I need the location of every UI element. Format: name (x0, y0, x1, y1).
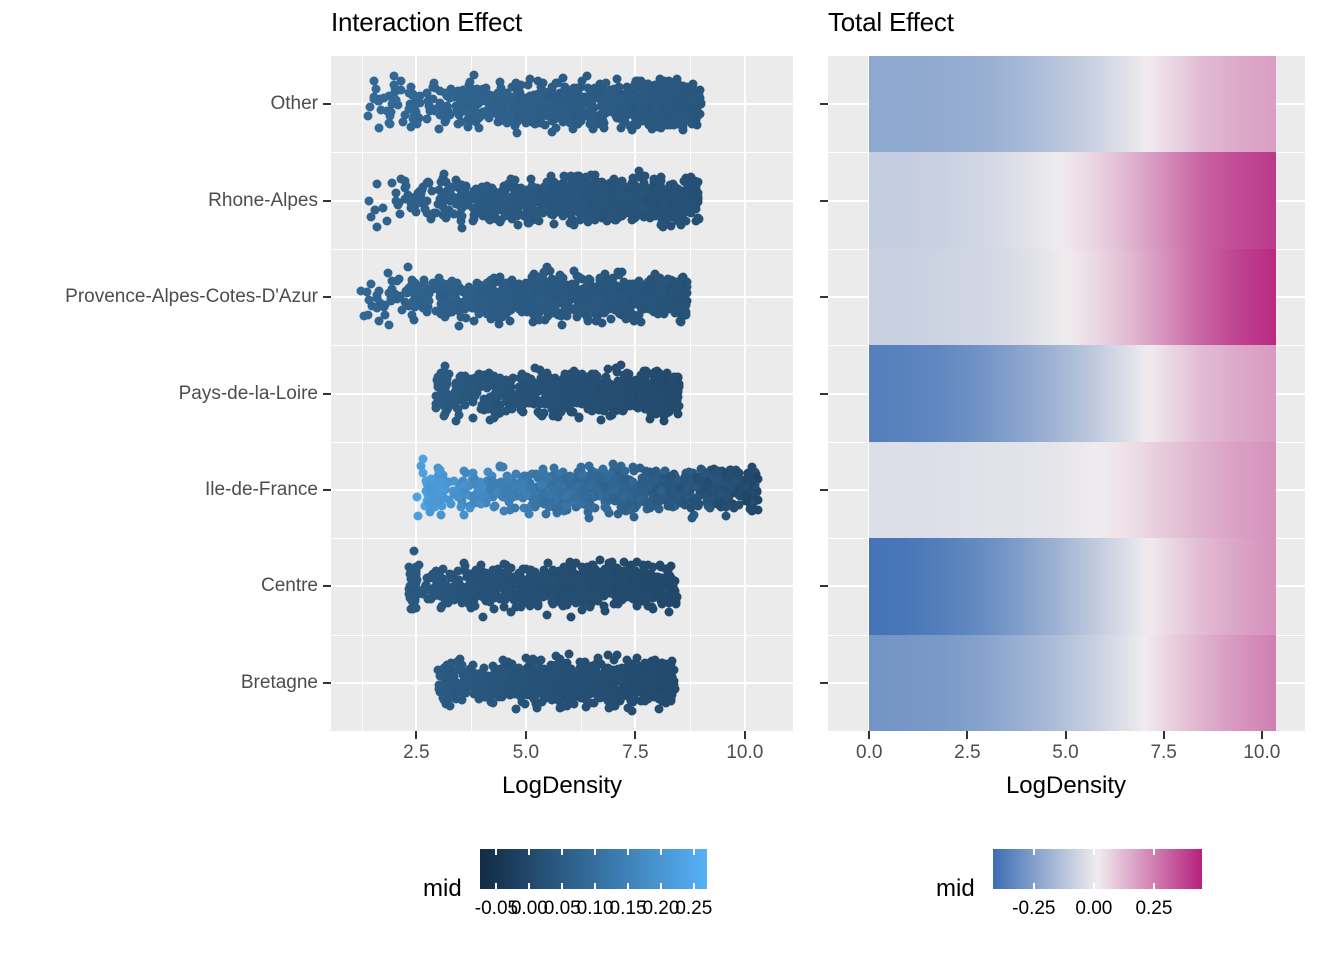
scatter-point (590, 285, 599, 294)
scatter-point (593, 179, 602, 188)
scatter-point (391, 95, 400, 104)
scatter-point (560, 172, 569, 181)
scatter-point (650, 177, 659, 186)
scatter-point (608, 493, 617, 502)
scatter-point (561, 103, 570, 112)
scatter-point (620, 371, 629, 380)
scatter-point (528, 279, 537, 288)
scatter-point (683, 204, 692, 213)
scatter-point (490, 481, 499, 490)
scatter-point (405, 283, 414, 292)
scatter-point (363, 111, 372, 120)
gridline-vertical-minor (690, 56, 691, 731)
scatter-point (598, 117, 607, 126)
scatter-point (464, 191, 473, 200)
scatter-point (721, 503, 730, 512)
scatter-point (509, 191, 518, 200)
scatter-point (629, 173, 638, 182)
scatter-point (648, 477, 657, 486)
scatter-point (460, 511, 469, 520)
scatter-point (666, 471, 675, 480)
scatter-point (644, 95, 653, 104)
scatter-point (396, 210, 405, 219)
scatter-point (412, 120, 421, 129)
scatter-point (746, 504, 755, 513)
scatter-point (475, 201, 484, 210)
scatter-point (656, 285, 665, 294)
scatter-point (483, 182, 492, 191)
scatter-point (381, 311, 390, 320)
scatter-point (595, 274, 604, 283)
panel-title-total-effect: Total Effect (828, 7, 954, 38)
scatter-point (545, 294, 554, 303)
scatter-point (446, 110, 455, 119)
scatter-point (525, 391, 534, 400)
scatter-point (572, 312, 581, 321)
scatter-point (530, 193, 539, 202)
scatter-point (667, 222, 676, 231)
scatter-point (742, 491, 751, 500)
scatter-point (495, 461, 504, 470)
scatter-point (500, 507, 509, 516)
scatter-point (501, 185, 510, 194)
scatter-point (431, 209, 440, 218)
scatter-point (721, 511, 730, 520)
scatter-point (668, 373, 677, 382)
scatter-point (627, 105, 636, 114)
scatter-point (657, 404, 666, 413)
scatter-point (392, 188, 401, 197)
scatter-point (637, 480, 646, 489)
scatter-point (646, 410, 655, 419)
scatter-point (606, 315, 615, 324)
scatter-point (511, 122, 520, 131)
scatter-point (730, 504, 739, 513)
scatter-point (480, 395, 489, 404)
scatter-point (462, 313, 471, 322)
scatter-point (448, 308, 457, 317)
scatter-point (375, 286, 384, 295)
scatter-point (572, 370, 581, 379)
scatter-point (658, 383, 667, 392)
scatter-point (558, 211, 567, 220)
scatter-point (558, 321, 567, 330)
scatter-point (528, 317, 537, 326)
scatter-point (356, 287, 365, 296)
scatter-point (606, 198, 615, 207)
scatter-point (655, 496, 664, 505)
gridline-horizontal-minor (331, 538, 793, 539)
scatter-point (380, 94, 389, 103)
scatter-point (426, 107, 435, 116)
scatter-point (590, 370, 599, 379)
scatter-point (602, 186, 611, 195)
scatter-point (653, 122, 662, 131)
scatter-point (649, 605, 658, 614)
scatter-point (523, 81, 532, 90)
scatter-point (421, 204, 430, 213)
scatter-point (659, 199, 668, 208)
scatter-point (643, 103, 652, 112)
gridline-horizontal-minor (331, 345, 793, 346)
scatter-point (457, 371, 466, 380)
scatter-point (433, 373, 442, 382)
scatter-point (600, 207, 609, 216)
scatter-point (693, 188, 702, 197)
scatter-point (454, 119, 463, 128)
scatter-point (668, 486, 677, 495)
scatter-point (470, 210, 479, 219)
scatter-point (405, 104, 414, 113)
scatter-point (691, 501, 700, 510)
scatter-point (504, 307, 513, 316)
scatter-point (624, 191, 633, 200)
scatter-point (407, 310, 416, 319)
scatter-point (620, 466, 629, 475)
scatter-point (455, 321, 464, 330)
scatter-point (373, 180, 382, 189)
gridline-vertical (415, 56, 417, 731)
scatter-point (663, 502, 672, 511)
scatter-point (643, 285, 652, 294)
scatter-point (507, 275, 516, 284)
scatter-point (694, 178, 703, 187)
scatter-point (686, 172, 695, 181)
scatter-point (688, 513, 697, 522)
scatter-point (694, 215, 703, 224)
scatter-point (632, 197, 641, 206)
scatter-point (531, 379, 540, 388)
scatter-point (439, 412, 448, 421)
scatter-point (614, 189, 623, 198)
scatter-point (480, 405, 489, 414)
scatter-point (568, 208, 577, 217)
scatter-point (676, 186, 685, 195)
scatter-point (465, 116, 474, 125)
scatter-point (587, 111, 596, 120)
scatter-point (602, 78, 611, 87)
scatter-point (473, 290, 482, 299)
scatter-point (455, 385, 464, 394)
scatter-point (556, 270, 565, 279)
scatter-point (651, 211, 660, 220)
scatter-point (481, 83, 490, 92)
scatter-point (422, 308, 431, 317)
scatter-point (568, 85, 577, 94)
scatter-point (615, 106, 624, 115)
scatter-point (550, 219, 559, 228)
scatter-point (702, 470, 711, 479)
scatter-point (383, 217, 392, 226)
scatter-point (526, 483, 535, 492)
scatter-point (495, 218, 504, 227)
scatter-point (588, 478, 597, 487)
scatter-point (597, 415, 606, 424)
scatter-point (542, 263, 551, 272)
scatter-point (692, 473, 701, 482)
scatter-point (576, 116, 585, 125)
scatter-point (385, 321, 394, 330)
scatter-point (373, 304, 382, 313)
scatter-point (386, 120, 395, 129)
scatter-point (502, 489, 511, 498)
scatter-point (426, 507, 435, 516)
scatter-point (581, 392, 590, 401)
scatter-point (503, 292, 512, 301)
scatter-point (457, 224, 466, 233)
scatter-point (518, 379, 527, 388)
scatter-point (581, 191, 590, 200)
scatter-point (492, 381, 501, 390)
scatter-point (468, 304, 477, 313)
scatter-point (416, 99, 425, 108)
scatter-point (601, 379, 610, 388)
scatter-point (390, 71, 399, 80)
scatter-point (372, 223, 381, 232)
scatter-point (409, 296, 418, 305)
scatter-point (478, 95, 487, 104)
scatter-point (613, 384, 622, 393)
scatter-point (365, 196, 374, 205)
scatter-point (688, 91, 697, 100)
scatter-point (495, 78, 504, 87)
scatter-point (600, 502, 609, 511)
scatter-point (679, 296, 688, 305)
scatter-point (748, 478, 757, 487)
scatter-point (559, 74, 568, 83)
scatter-point (419, 455, 428, 464)
scatter-point (539, 498, 548, 507)
gridline-vertical-minor (362, 56, 363, 731)
scatter-point (574, 272, 583, 281)
scatter-point (498, 106, 507, 115)
scatter-point (646, 274, 655, 283)
scatter-point (665, 607, 674, 616)
scatter-point (482, 302, 491, 311)
scatter-point (501, 376, 510, 385)
scatter-point (498, 197, 507, 206)
scatter-point (634, 77, 643, 86)
scatter-point (673, 283, 682, 292)
scatter-point (561, 491, 570, 500)
scatter-point (539, 103, 548, 112)
scatter-point (550, 388, 559, 397)
scatter-point (561, 306, 570, 315)
scatter-point (677, 274, 686, 283)
scatter-point (482, 107, 491, 116)
scatter-point (543, 282, 552, 291)
scatter-point (616, 361, 625, 370)
scatter-point (540, 489, 549, 498)
scatter-point (635, 95, 644, 104)
scatter-point (654, 302, 663, 311)
scatter-point (475, 123, 484, 132)
scatter-point (612, 74, 621, 83)
scatter-point (364, 310, 373, 319)
scatter-point (450, 477, 459, 486)
scatter-point (630, 402, 639, 411)
scatter-point (404, 263, 413, 272)
scatter-point (513, 208, 522, 217)
scatter-point (598, 396, 607, 405)
scatter-point (538, 79, 547, 88)
scatter-point (614, 270, 623, 279)
scatter-panel (331, 56, 793, 731)
scatter-point (629, 512, 638, 521)
scatter-point (579, 200, 588, 209)
scatter-point (387, 277, 396, 286)
scatter-point (590, 389, 599, 398)
scatter-point (566, 472, 575, 481)
scatter-point (505, 96, 514, 105)
scatter-point (543, 178, 552, 187)
scatter-point (714, 467, 723, 476)
scatter-point (564, 381, 573, 390)
scatter-point (413, 511, 422, 520)
scatter-point (629, 463, 638, 472)
scatter-point (461, 105, 470, 114)
scatter-point (631, 282, 640, 291)
scatter-point (550, 206, 559, 215)
panel-title-interaction-effect: Interaction Effect (331, 7, 522, 38)
scatter-point (519, 288, 528, 297)
scatter-point (644, 116, 653, 125)
scatter-point (401, 181, 410, 190)
scatter-point (646, 295, 655, 304)
scatter-point (551, 124, 560, 133)
scatter-point (446, 499, 455, 508)
scatter-point (592, 200, 601, 209)
scatter-point (582, 380, 591, 389)
scatter-point (434, 125, 443, 134)
scatter-point (529, 99, 538, 108)
scatter-point (617, 116, 626, 125)
gridline-horizontal-minor (331, 152, 793, 153)
scatter-point (422, 178, 431, 187)
scatter-point (562, 285, 571, 294)
scatter-point (636, 371, 645, 380)
scatter-point (523, 307, 532, 316)
scatter-point (657, 487, 666, 496)
scatter-point (454, 405, 463, 414)
scatter-point (576, 300, 585, 309)
scatter-point (445, 94, 454, 103)
scatter-point (591, 317, 600, 326)
scatter-point (678, 125, 687, 134)
scatter-point (490, 501, 499, 510)
scatter-point (504, 208, 513, 217)
scatter-point (633, 87, 642, 96)
scatter-point (724, 472, 733, 481)
scatter-point (692, 116, 701, 125)
scatter-point (515, 89, 524, 98)
scatter-point (673, 74, 682, 83)
scatter-point (588, 212, 597, 221)
scatter-point (624, 208, 633, 217)
scatter-point (669, 212, 678, 221)
scatter-point (468, 414, 477, 423)
scatter-point (530, 363, 539, 372)
scatter-point (644, 501, 653, 510)
scatter-point (680, 473, 689, 482)
scatter-point (574, 107, 583, 116)
scatter-point (484, 284, 493, 293)
scatter-point (430, 84, 439, 93)
scatter-point (536, 208, 545, 217)
scatter-point (464, 282, 473, 291)
scatter-point (536, 409, 545, 418)
scatter-point (471, 391, 480, 400)
scatter-point (442, 389, 451, 398)
scatter-point (597, 101, 606, 110)
scatter-point (659, 77, 668, 86)
scatter-point (533, 398, 542, 407)
scatter-point (608, 282, 617, 291)
scatter-point (453, 492, 462, 501)
scatter-point (456, 191, 465, 200)
scatter-point (551, 505, 560, 514)
scatter-point (611, 474, 620, 483)
scatter-point (476, 500, 485, 509)
scatter-point (682, 485, 691, 494)
scatter-point (577, 83, 586, 92)
scatter-point (544, 379, 553, 388)
scatter-point (539, 196, 548, 205)
scatter-point (435, 466, 444, 475)
scatter-point (426, 486, 435, 495)
scatter-point (552, 193, 561, 202)
scatter-point (451, 175, 460, 184)
scatter-point (448, 277, 457, 286)
scatter-point (411, 201, 420, 210)
scatter-point (611, 407, 620, 416)
scatter-point (432, 496, 441, 505)
scatter-point (457, 503, 466, 512)
scatter-point (378, 204, 387, 213)
scatter-point (522, 118, 531, 127)
scatter-point (413, 492, 422, 501)
scatter-point (627, 296, 636, 305)
scatter-point (638, 392, 647, 401)
scatter-point (491, 204, 500, 213)
scatter-point (437, 510, 446, 519)
gridline-vertical (744, 56, 746, 731)
scatter-point (524, 202, 533, 211)
scatter-point (617, 284, 626, 293)
scatter-point (586, 119, 595, 128)
scatter-point (446, 191, 455, 200)
scatter-point (459, 481, 468, 490)
scatter-point (410, 546, 419, 555)
scatter-point (575, 171, 584, 180)
gridline-horizontal-minor (331, 635, 793, 636)
scatter-point (503, 88, 512, 97)
scatter-point (474, 485, 483, 494)
scatter-point (564, 192, 573, 201)
scatter-point (387, 178, 396, 187)
scatter-point (532, 469, 541, 478)
scatter-point (561, 111, 570, 120)
scatter-point (436, 310, 445, 319)
scatter-point (434, 400, 443, 409)
scatter-point (429, 94, 438, 103)
scatter-point (687, 105, 696, 114)
scatter-point (656, 274, 665, 283)
scatter-point (533, 304, 542, 313)
scatter-point (438, 290, 447, 299)
scatter-point (469, 71, 478, 80)
scatter-point (509, 391, 518, 400)
